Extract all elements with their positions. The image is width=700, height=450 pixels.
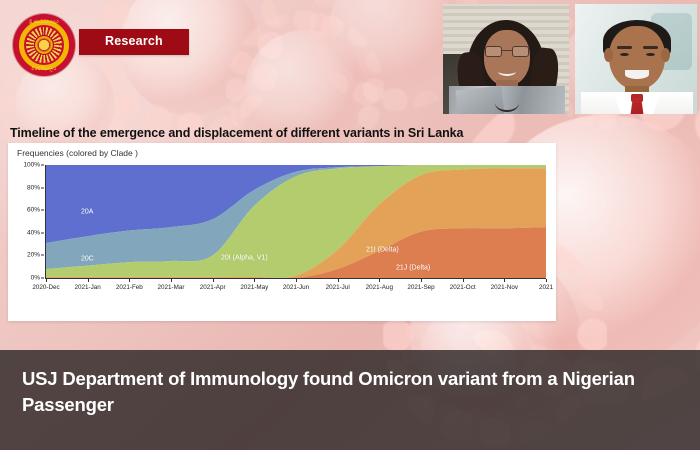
chart-x-axis: 2020-Dec2021-Jan2021-Feb2021-Mar2021-Apr…: [46, 279, 546, 295]
eyebrow-shape: [643, 46, 658, 49]
chart-panel: Frequencies (colored by Clade ) 0%20%40%…: [8, 143, 556, 321]
x-axis-tick-mark: [379, 279, 380, 282]
y-axis-tick-mark: [41, 210, 44, 211]
seal-script-bottom: විශ්වවිද්‍යාලය: [13, 66, 75, 71]
headline-banner: USJ Department of Immunology found Omicr…: [0, 350, 700, 450]
eye-shape: [646, 53, 655, 56]
chart-subtitle: Frequencies (colored by Clade ): [17, 148, 138, 158]
x-axis-tick-mark: [546, 279, 547, 282]
x-axis-tick-label: 2021-Sep: [407, 284, 434, 291]
y-axis-tick-label: 80%: [27, 184, 40, 191]
x-axis-tick-mark: [338, 279, 339, 282]
ear-shape: [661, 48, 670, 62]
x-axis-tick-mark: [171, 279, 172, 282]
poster-root: ශ්‍රී ජයවර්ධනපුර විශ්වවිද්‍යාලය Research: [0, 0, 700, 450]
y-axis-tick-label: 20%: [27, 252, 40, 259]
eyebrow-shape: [617, 46, 632, 49]
x-axis-tick-mark: [296, 279, 297, 282]
x-axis-tick-label: 2021-Apr: [200, 284, 226, 291]
x-axis-tick-mark: [46, 279, 47, 282]
stacked-area-svg: [46, 165, 546, 278]
x-axis-tick-mark: [504, 279, 505, 282]
chart-title: Timeline of the emergence and displaceme…: [10, 126, 463, 140]
x-axis-tick-label: 2021-Jun: [283, 284, 309, 291]
y-axis-tick-mark: [41, 165, 44, 166]
y-axis-tick-mark: [41, 278, 44, 279]
x-axis-tick-mark: [254, 279, 255, 282]
face-shape: [609, 26, 665, 90]
necklace-shape: [495, 94, 519, 112]
seal-core-icon: [34, 35, 54, 55]
x-axis-tick-mark: [213, 279, 214, 282]
portrait-photo-right: [575, 4, 697, 114]
smile-shape: [498, 67, 516, 76]
x-axis-tick-label: 2021-Mar: [158, 284, 185, 291]
x-axis-tick-label: 2020-Dec: [32, 284, 59, 291]
eyeglasses-icon: [485, 46, 529, 57]
y-axis-tick-label: 100%: [23, 162, 40, 169]
ear-shape: [604, 48, 613, 62]
x-axis-tick-label: 2021: [539, 284, 553, 291]
x-axis-tick-label: 2021-Nov: [491, 284, 518, 291]
x-axis-tick-label: 2021-Jul: [326, 284, 350, 291]
y-axis-tick-label: 60%: [27, 207, 40, 214]
research-category-badge[interactable]: Research: [79, 29, 189, 55]
chart-y-axis: 0%20%40%60%80%100%: [8, 165, 44, 278]
y-axis-tick-mark: [41, 255, 44, 256]
face-shape: [484, 30, 530, 86]
x-axis-tick-label: 2021-Oct: [450, 284, 476, 291]
seal-script-top: ශ්‍රී ජයවර්ධනපුර: [13, 19, 75, 24]
y-axis-tick-mark: [41, 187, 44, 188]
x-axis-tick-label: 2021-May: [240, 284, 268, 291]
y-axis-tick-label: 0%: [31, 275, 40, 282]
x-axis-tick-mark: [463, 279, 464, 282]
x-axis-tick-label: 2021-Jan: [75, 284, 101, 291]
y-axis-tick-label: 40%: [27, 229, 40, 236]
x-axis-tick-label: 2021-Feb: [116, 284, 143, 291]
university-seal-logo: ශ්‍රී ජයවර්ධනපුර විශ්වවිද්‍යාලය: [13, 14, 75, 76]
virus-particle-icon: [330, 0, 460, 90]
x-axis-tick-label: 2021-Aug: [366, 284, 393, 291]
x-axis-tick-mark: [421, 279, 422, 282]
x-axis-tick-mark: [88, 279, 89, 282]
headline-text: USJ Department of Immunology found Omicr…: [22, 366, 662, 419]
x-axis-tick-mark: [129, 279, 130, 282]
chart-plot-area: 20A20C20I (Alpha, V1)21I (Delta)21J (Del…: [46, 165, 546, 278]
smile-shape: [625, 70, 649, 79]
portrait-photo-left: [443, 4, 569, 114]
eye-shape: [620, 53, 629, 56]
y-axis-tick-mark: [41, 232, 44, 233]
